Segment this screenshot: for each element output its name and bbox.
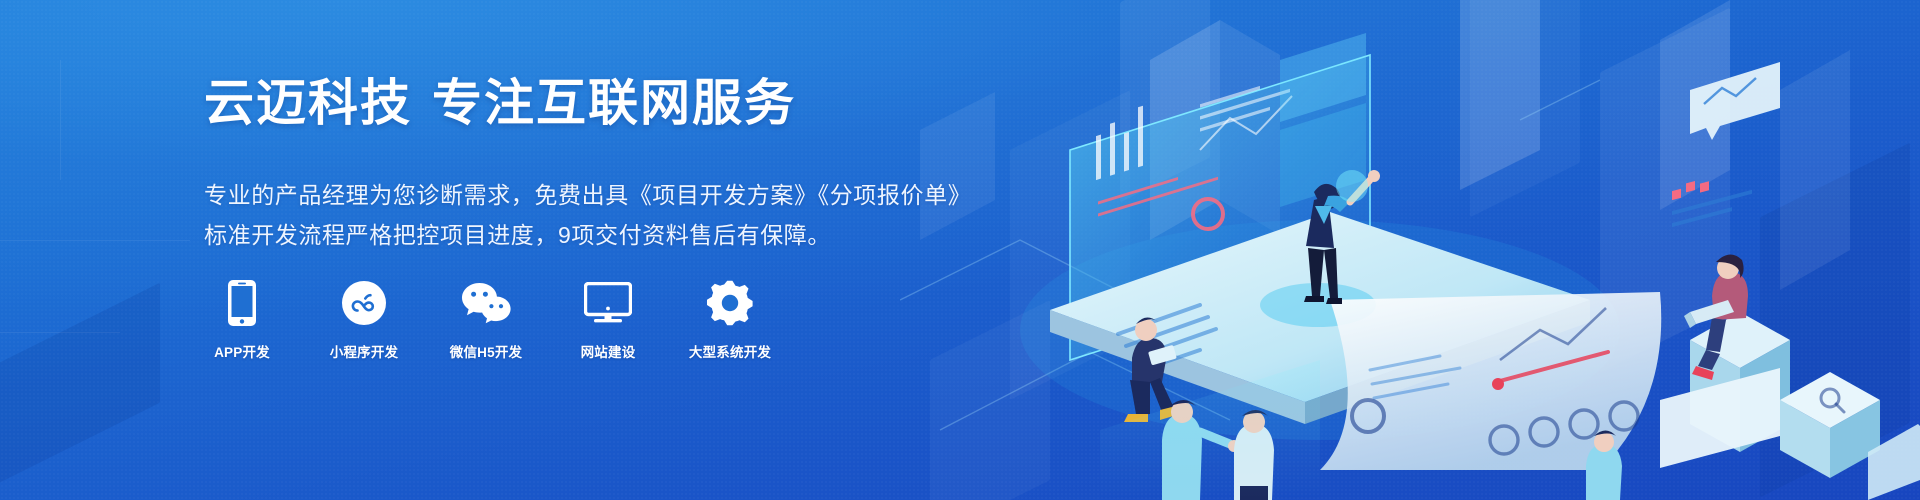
service-label-system: 大型系统开发 [689,341,771,361]
title-tagline: 专注互联网服务 [432,75,796,131]
mini-program-icon [336,277,392,329]
hero-banner: 云迈科技专注互联网服务 专业的产品经理为您诊断需求，免费出具《项目开发方案》《分… [0,0,1920,500]
gear-icon [702,277,758,329]
deco-line-2 [0,332,120,333]
service-item-website[interactable]: 网站建设 [570,277,646,361]
page-title: 云迈科技专注互联网服务 [204,74,796,133]
monitor-icon [580,277,636,329]
service-icon-row: APP开发 小程序开发 [204,277,768,361]
service-item-app[interactable]: APP开发 [204,277,280,361]
service-label-website: 网站建设 [581,341,636,361]
title-brand: 云迈科技 [204,75,412,131]
service-item-wechat[interactable]: 微信H5开发 [448,277,524,361]
deco-line-3 [60,60,61,180]
service-item-miniprogram[interactable]: 小程序开发 [326,277,402,361]
service-label-miniprogram: 小程序开发 [330,341,399,361]
glow-dot-1 [1336,170,1368,202]
deco-block-1 [0,283,160,498]
wechat-icon [458,277,514,329]
mobile-phone-icon [214,277,270,329]
subtitle-line-2: 标准开发流程严格把控项目进度，9项交付资料售后有保障。 [204,216,831,250]
service-label-app: APP开发 [214,341,270,361]
subtitle-line-1: 专业的产品经理为您诊断需求，免费出具《项目开发方案》《分项报价单》 [204,176,971,210]
banner-text-block: 云迈科技专注互联网服务 专业的产品经理为您诊断需求，免费出具《项目开发方案》《分… [200,0,1100,500]
service-label-wechat: 微信H5开发 [450,341,522,361]
service-item-system[interactable]: 大型系统开发 [692,277,768,361]
deco-line-1 [0,240,190,241]
